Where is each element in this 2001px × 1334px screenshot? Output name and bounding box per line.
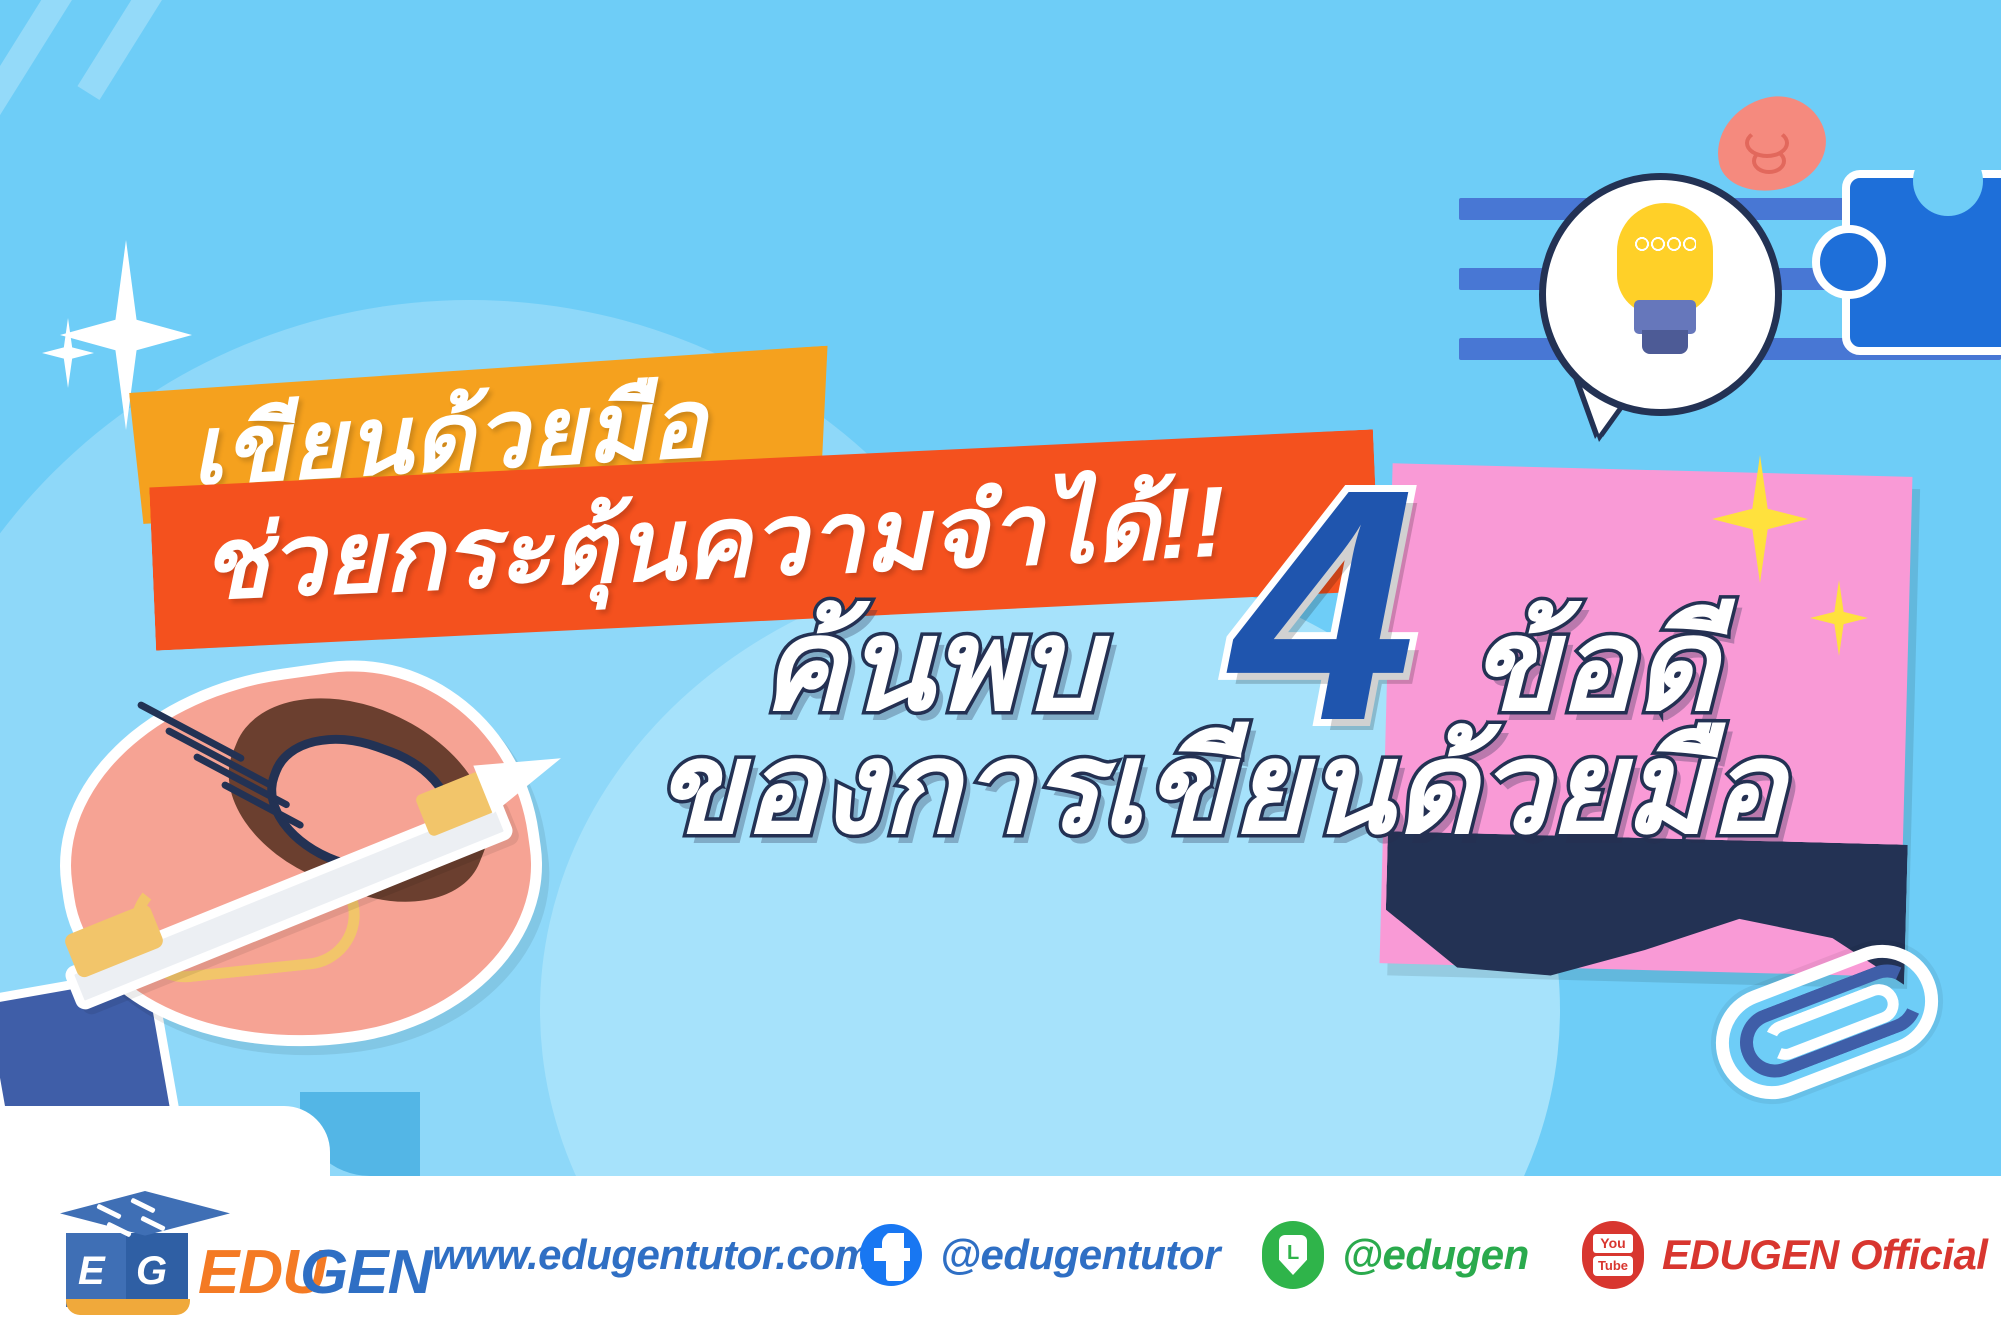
line-link[interactable]: L @edugen [1262, 1176, 1529, 1334]
peach-blob-line [1752, 148, 1786, 174]
youtube-label-you: You [1593, 1234, 1633, 1253]
headline-word-discover: ค้นพบ [760, 594, 1099, 737]
edugen-logo[interactable]: E G EDU GEN [38, 1187, 358, 1312]
facebook-handle: @edugentutor [940, 1231, 1220, 1279]
youtube-icon: You Tube [1582, 1221, 1644, 1289]
facebook-link[interactable]: @edugentutor [860, 1176, 1220, 1334]
logo-mark-e: E [78, 1249, 105, 1294]
logo-mark-g: G [136, 1249, 167, 1294]
logo-book-base [66, 1299, 190, 1315]
lightbulb-neck [1634, 300, 1696, 334]
hand-writing-illustration [10, 630, 670, 1150]
puzzle-piece-notch [1913, 146, 1983, 216]
lightbulb-base [1642, 330, 1688, 354]
footer-notch [0, 1106, 330, 1176]
poster-canvas: เขียนด้วยมือ ช่วยกระตุ้นความจำได้!! 4 ค้… [0, 0, 2001, 1334]
website-link[interactable]: www.edugentutor.com [432, 1176, 871, 1334]
headline-line-2: ของการเขียนด้วยมือ [655, 718, 1785, 860]
headline-word-benefits: ข้อดี [1470, 594, 1718, 737]
logo-word-gen: GEN [300, 1237, 431, 1308]
headline-number-4: 4 [1232, 440, 1416, 770]
puzzle-piece-knob [1812, 225, 1886, 299]
website-text: www.edugentutor.com [432, 1231, 871, 1279]
line-icon: L [1262, 1221, 1324, 1289]
youtube-handle: EDUGEN Official [1662, 1231, 1987, 1279]
facebook-icon [860, 1224, 922, 1286]
line-handle: @edugen [1342, 1231, 1529, 1279]
lightbulb-filament [1634, 233, 1696, 255]
youtube-link[interactable]: You Tube EDUGEN Official [1582, 1176, 1987, 1334]
youtube-label-tube: Tube [1593, 1256, 1633, 1276]
lightbulb-icon [1617, 203, 1713, 315]
